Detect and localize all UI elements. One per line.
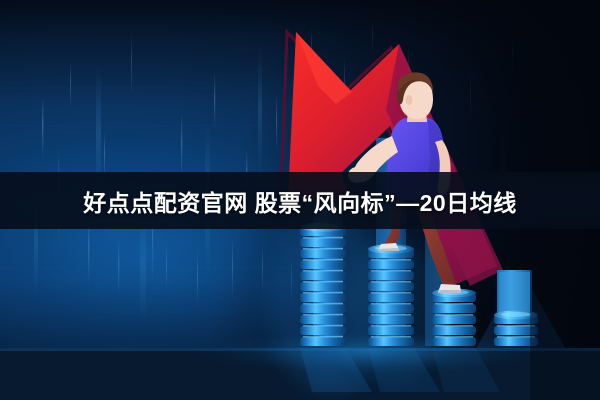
coin-stack-1 <box>300 222 346 346</box>
banner-image: 好点点配资官网 股票“风向标”—20日均线 <box>0 0 600 400</box>
coin-stack-3 <box>432 289 476 346</box>
title-band: 好点点配资官网 股票“风向标”—20日均线 <box>0 172 600 229</box>
person-ear <box>406 95 413 105</box>
coin-stack-2 <box>368 244 414 346</box>
banner-title: 好点点配资官网 股票“风向标”—20日均线 <box>83 184 516 218</box>
